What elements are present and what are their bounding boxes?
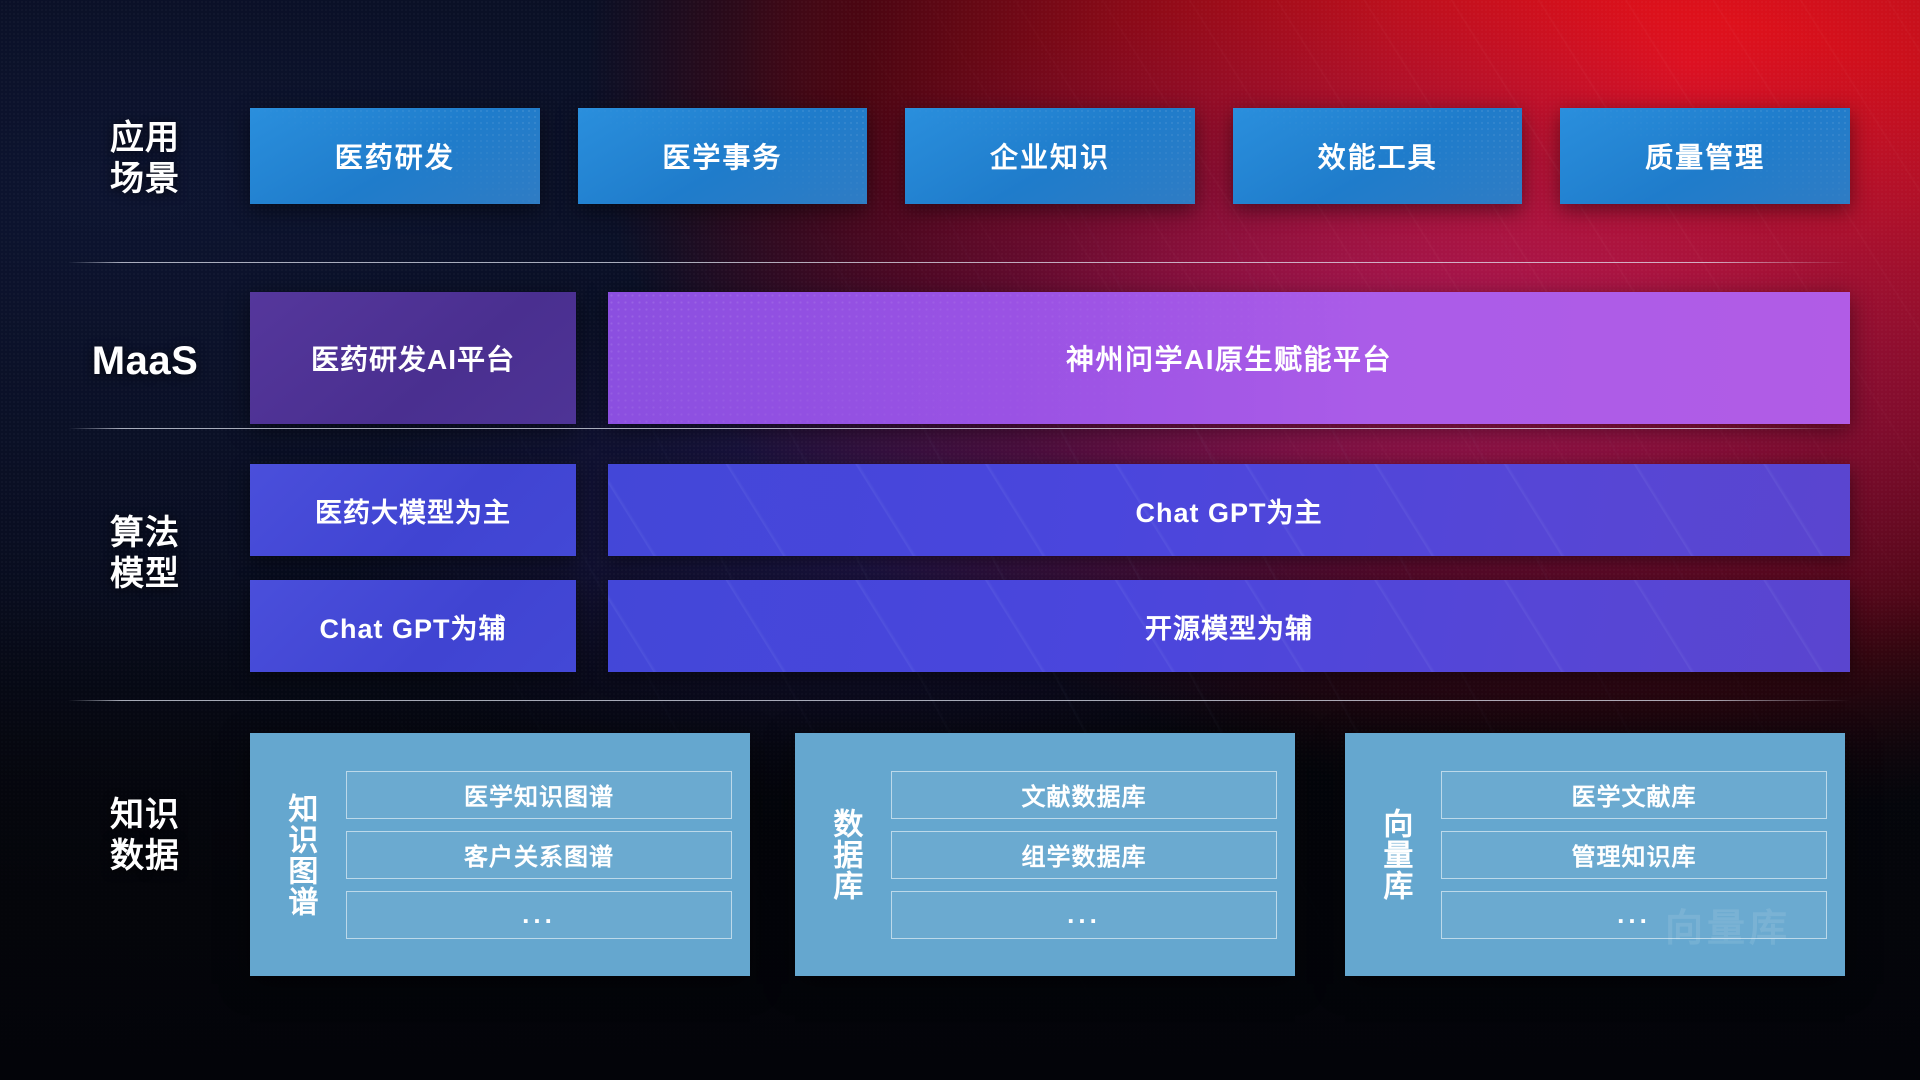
knowledge-group-title: 数据库 (813, 747, 875, 962)
divider-after-application-scenarios (68, 262, 1850, 263)
maas-box-shenzhou-wenxue-platform[interactable]: 神州问学AI原生赋能平台 (608, 292, 1850, 424)
scene-box-quality-management[interactable]: 质量管理 (1560, 108, 1850, 204)
scene-box-enterprise-knowledge[interactable]: 企业知识 (905, 108, 1195, 204)
knowledge-group-knowledge-graph[interactable]: 知识图谱 医学知识图谱 客户关系图谱 ... (250, 733, 750, 976)
divider-after-maas (68, 428, 1850, 429)
scene-box-drug-rd[interactable]: 医药研发 (250, 108, 540, 204)
scene-box-medical-affairs[interactable]: 医学事务 (578, 108, 868, 204)
knowledge-item[interactable]: 文献数据库 (891, 771, 1277, 819)
knowledge-item[interactable]: 医学知识图谱 (346, 771, 732, 819)
architecture-diagram: 应用场景 医药研发 医学事务 企业知识 效能工具 质量管理 MaaS 医药研发A… (0, 0, 1920, 1080)
row-algorithm-models-line-1: 医药大模型为主 Chat GPT为主 (250, 464, 1850, 556)
knowledge-group-item-list: 文献数据库 组学数据库 ... (875, 747, 1281, 962)
knowledge-item-label: 客户关系图谱 (464, 837, 614, 872)
row-maas: 医药研发AI平台 神州问学AI原生赋能平台 (250, 292, 1850, 424)
algo-box-label: 医药大模型为主 (315, 491, 511, 530)
knowledge-group-item-list: 医学知识图谱 客户关系图谱 ... (330, 747, 736, 962)
knowledge-item-label: 医学文献库 (1572, 777, 1697, 812)
knowledge-item-more[interactable]: ... (1441, 891, 1827, 939)
knowledge-item-label: ... (1617, 899, 1651, 930)
knowledge-item[interactable]: 组学数据库 (891, 831, 1277, 879)
knowledge-item-label: 管理知识库 (1572, 837, 1697, 872)
knowledge-group-database[interactable]: 数据库 文献数据库 组学数据库 ... (795, 733, 1295, 976)
algo-box-chatgpt-secondary[interactable]: Chat GPT为辅 (250, 580, 576, 672)
knowledge-item-label: ... (522, 899, 556, 930)
algo-box-chatgpt-primary[interactable]: Chat GPT为主 (608, 464, 1850, 556)
row-algorithm-models-line-2: Chat GPT为辅 开源模型为辅 (250, 580, 1850, 672)
scene-box-label: 医学事务 (662, 136, 782, 176)
row-label-application-scenarios: 应用场景 (60, 118, 230, 201)
row-label-knowledge-data: 知识数据 (60, 795, 230, 878)
scene-box-efficiency-tools[interactable]: 效能工具 (1233, 108, 1523, 204)
knowledge-group-item-list: 医学文献库 管理知识库 ... (1425, 747, 1831, 962)
maas-box-label: 医药研发AI平台 (311, 338, 515, 378)
knowledge-group-vector-store[interactable]: 向量库 医学文献库 管理知识库 ... 向量库 (1345, 733, 1845, 976)
scene-box-label: 质量管理 (1645, 136, 1765, 176)
knowledge-item-label: 文献数据库 (1022, 777, 1147, 812)
row-application-scenarios: 医药研发 医学事务 企业知识 效能工具 质量管理 (250, 108, 1850, 204)
knowledge-item-label: 组学数据库 (1022, 837, 1147, 872)
scene-box-label: 效能工具 (1318, 136, 1438, 176)
knowledge-item[interactable]: 管理知识库 (1441, 831, 1827, 879)
knowledge-item[interactable]: 医学文献库 (1441, 771, 1827, 819)
knowledge-item-more[interactable]: ... (346, 891, 732, 939)
divider-after-algorithm-models (68, 700, 1850, 701)
scene-box-label: 医药研发 (335, 136, 455, 176)
row-label-maas: MaaS (60, 337, 230, 386)
knowledge-item-label: ... (1067, 899, 1101, 930)
scene-box-label: 企业知识 (990, 136, 1110, 176)
knowledge-item-more[interactable]: ... (891, 891, 1277, 939)
algo-box-label: 开源模型为辅 (1145, 607, 1313, 646)
row-label-algorithm-models: 算法模型 (60, 513, 230, 596)
algo-box-pharma-llm-primary[interactable]: 医药大模型为主 (250, 464, 576, 556)
maas-box-label: 神州问学AI原生赋能平台 (1066, 338, 1392, 378)
knowledge-item[interactable]: 客户关系图谱 (346, 831, 732, 879)
algo-box-opensource-secondary[interactable]: 开源模型为辅 (608, 580, 1850, 672)
maas-box-drug-rd-ai-platform[interactable]: 医药研发AI平台 (250, 292, 576, 424)
slide-canvas: 应用场景 医药研发 医学事务 企业知识 效能工具 质量管理 MaaS 医药研发A… (0, 0, 1920, 1080)
algo-box-label: Chat GPT为辅 (319, 607, 506, 646)
algo-box-label: Chat GPT为主 (1135, 491, 1322, 530)
knowledge-item-label: 医学知识图谱 (464, 777, 614, 812)
knowledge-group-title: 知识图谱 (268, 747, 330, 962)
knowledge-group-title: 向量库 (1363, 747, 1425, 962)
